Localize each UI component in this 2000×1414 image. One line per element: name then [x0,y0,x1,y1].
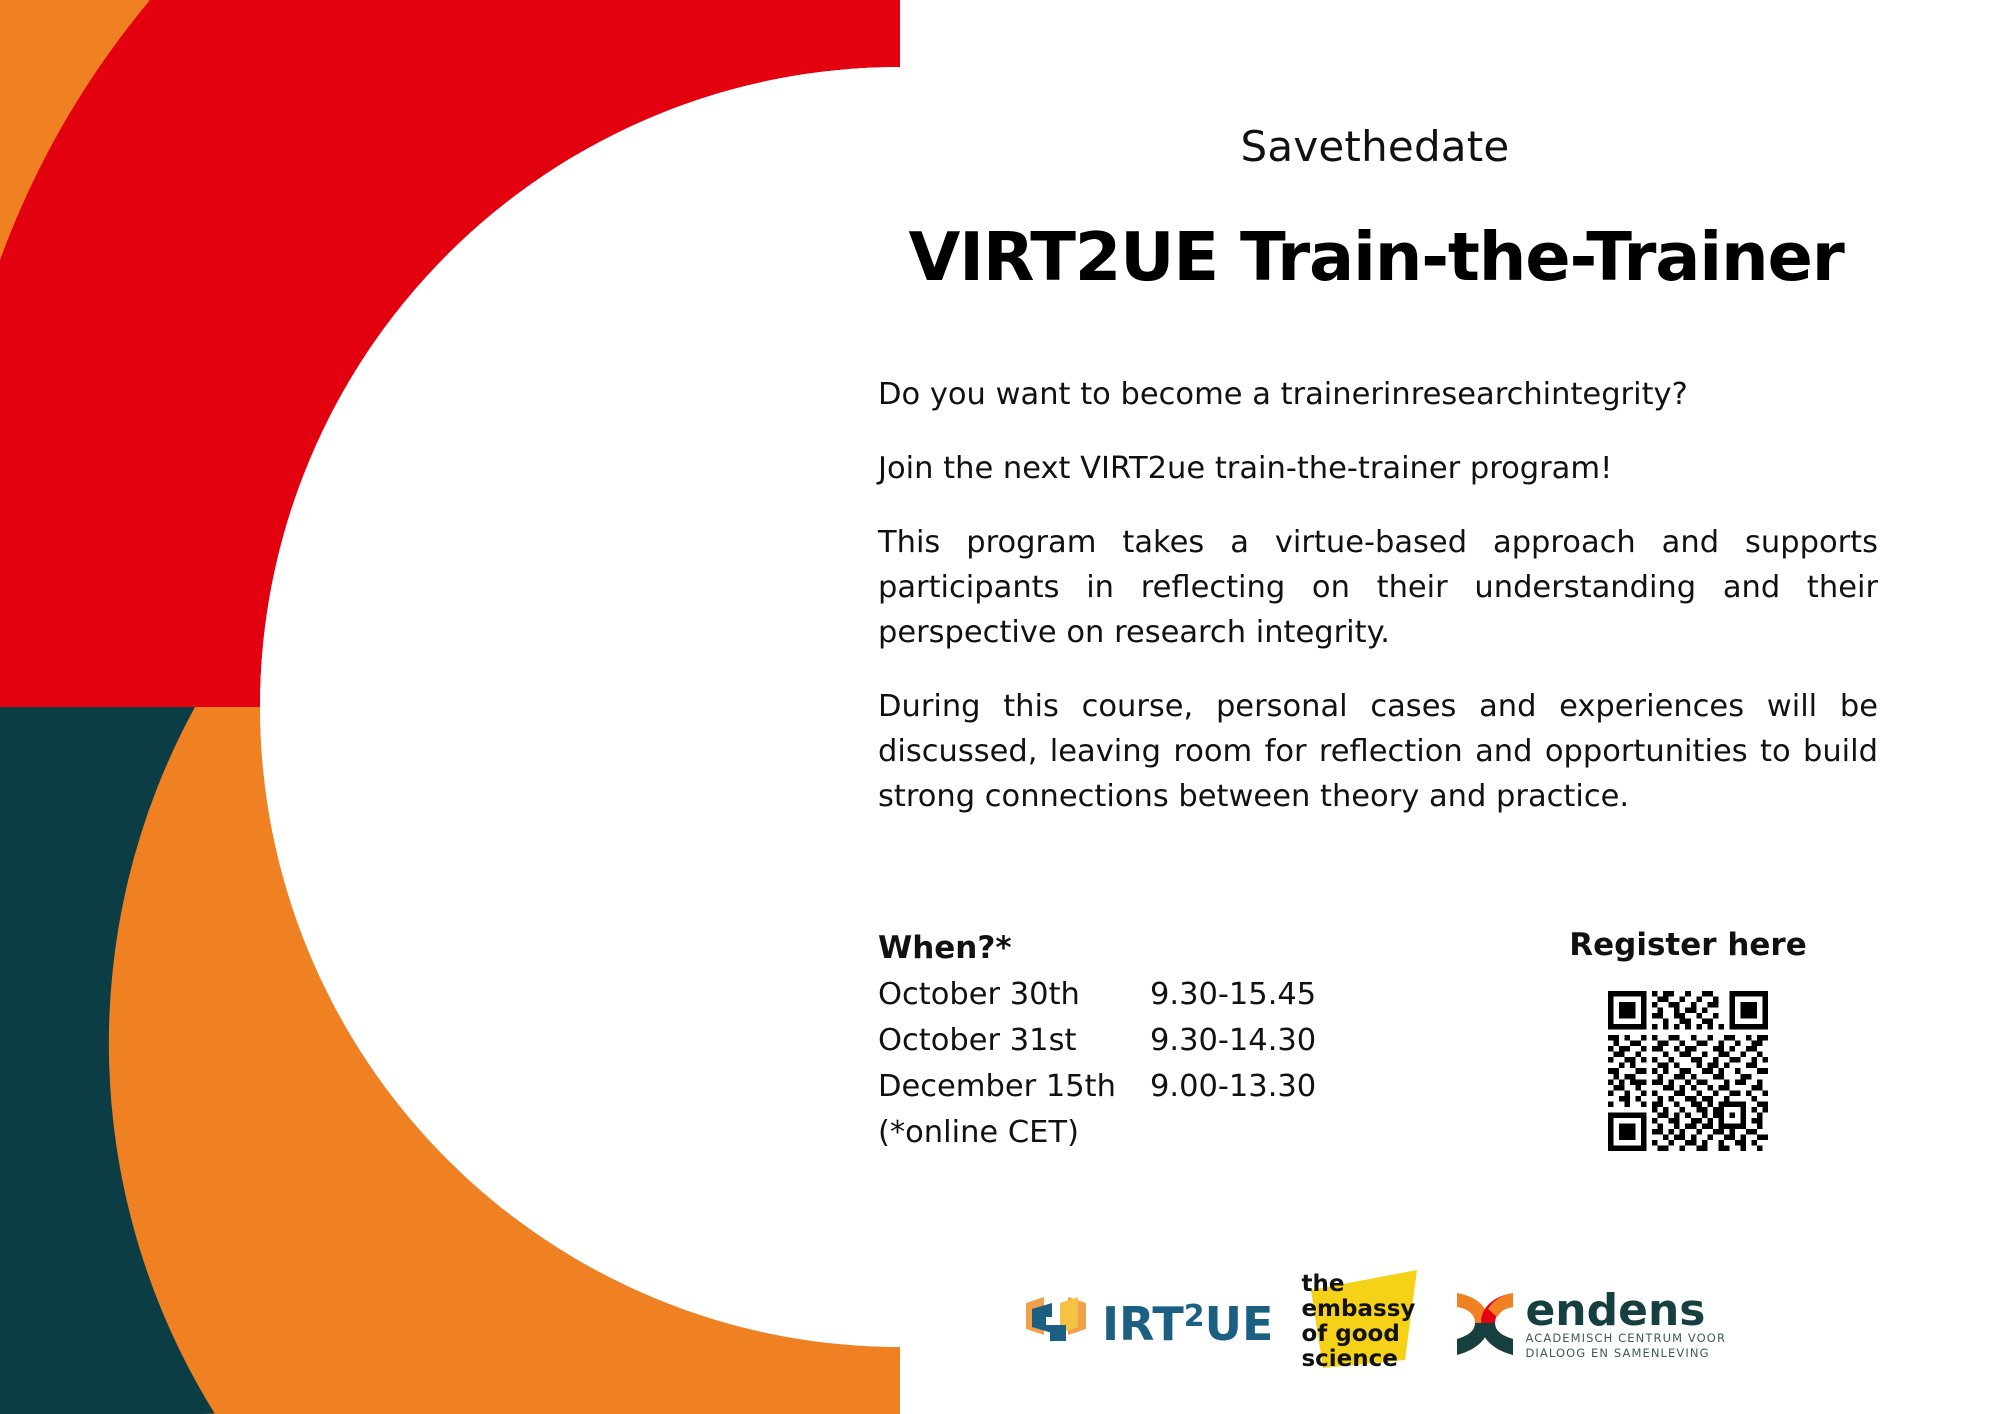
schedule-time: 9.30-14.30 [1150,1018,1316,1064]
virt2ue-wordmark: IRT2UE [1102,1301,1274,1347]
table-row: October 31st 9.30-14.30 [878,1018,1316,1064]
body-paragraph-3: This program takes a virtue-based approa… [878,520,1878,655]
when-heading: When?* [878,925,1378,971]
schedule-table: October 30th 9.30-15.45 October 31st 9.3… [878,972,1316,1110]
table-row: October 30th 9.30-15.45 [878,972,1316,1018]
body-paragraph-4: During this course, personal cases and e… [878,684,1878,819]
register-block: Register here [1498,925,1878,1151]
virt2ue-word-sup: 2 [1184,1299,1205,1334]
decorative-corner-graphic [0,0,900,1414]
qr-code-wrapper[interactable] [1498,991,1878,1151]
schedule-time: 9.30-15.45 [1150,972,1316,1018]
xendens-logo: endens ACADEMISCH CENTRUM VOOR DIALOOG E… [1449,1287,1726,1361]
body-paragraph-1: Do you want to become a trainerinresearc… [878,372,1878,417]
body-copy: Do you want to become a trainerinresearc… [878,372,1878,819]
when-block: When?* October 30th 9.30-15.45 October 3… [878,925,1378,1156]
xendens-x-icon [1449,1287,1521,1361]
save-the-date-kicker: Savethedate [870,122,1880,171]
embassy-of-good-science-logo: the embassy of good science [1297,1268,1425,1380]
timezone-note: (*online CET) [878,1110,1378,1156]
xendens-tagline-1: ACADEMISCH CENTRUM VOOR [1525,1331,1726,1346]
schedule-day: December 15th [878,1064,1150,1110]
xendens-tagline-2: DIALOOG EN SAMENLEVING [1525,1346,1726,1361]
table-row: December 15th 9.00-13.30 [878,1064,1316,1110]
register-heading: Register here [1498,925,1878,965]
embassy-line-2: embassy [1301,1297,1415,1322]
virt2ue-word-suffix: UE [1205,1297,1274,1351]
virt2ue-word-prefix: IRT [1102,1297,1184,1351]
embassy-wordmark: the embassy of good science [1301,1272,1415,1372]
poster-content: Savethedate VIRT2UE Train-the-Trainer Do… [870,0,1880,1414]
qr-code-icon[interactable] [1608,991,1768,1151]
schedule-time: 9.00-13.30 [1150,1064,1316,1110]
embassy-line-3: of good [1301,1322,1415,1347]
poster-canvas: Savethedate VIRT2UE Train-the-Trainer Do… [0,0,2000,1414]
schedule-day: October 31st [878,1018,1150,1064]
embassy-line-4: science [1301,1347,1415,1372]
virt2ue-logo: IRT2UE [1024,1295,1274,1353]
embassy-line-1: the [1301,1272,1415,1297]
virt2ue-mark-icon [1024,1295,1096,1353]
page-title: VIRT2UE Train-the-Trainer [876,218,1876,296]
logo-row: IRT2UE the embassy of good science [870,1268,1880,1380]
xendens-wordmark: endens [1525,1291,1726,1331]
schedule-day: October 30th [878,972,1150,1018]
body-paragraph-2: Join the next VIRT2ue train-the-trainer … [878,446,1878,491]
